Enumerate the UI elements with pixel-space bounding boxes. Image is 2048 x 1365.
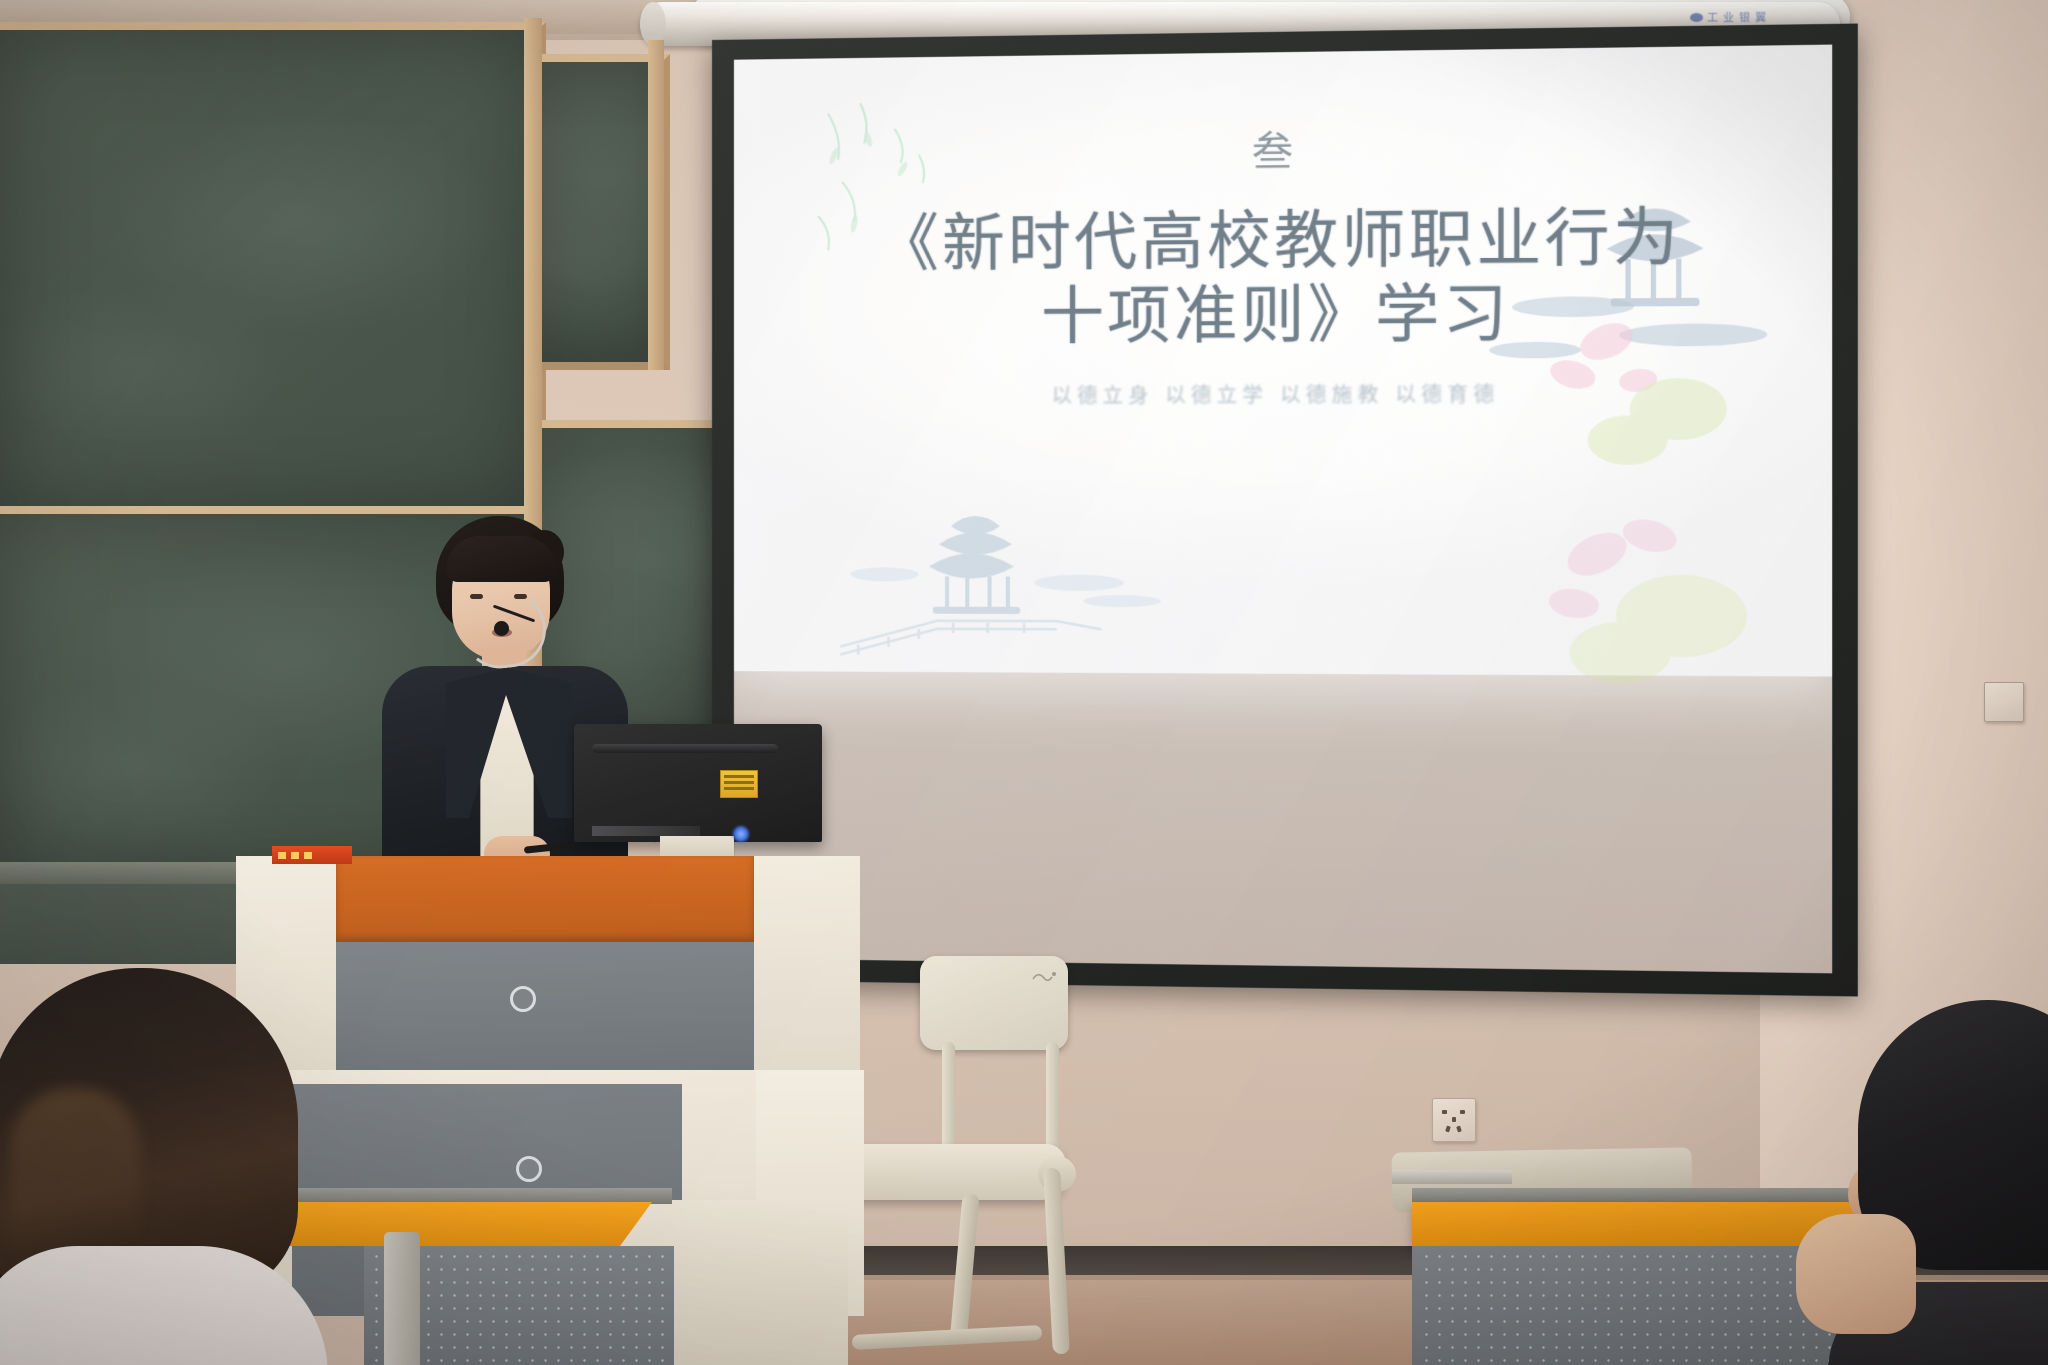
classroom-scene: 工 业 银 翼 [0, 0, 2048, 1365]
podium-lower-lock-icon[interactable] [516, 1156, 542, 1182]
chair-seat [830, 1144, 1066, 1200]
podium-indicator-led-icon [278, 852, 286, 859]
slide-text-block: 叁 《新时代高校教师职业行为 十项准则》学习 以德立身 以德立学 以德施教 以德… [734, 45, 1832, 476]
desk-edge [1392, 1170, 1512, 1184]
podium-accent-band [336, 856, 754, 942]
ink-wash-pavilion-icon [841, 478, 1176, 661]
chair-post-left [942, 1042, 955, 1160]
podium-upper-lock-icon[interactable] [510, 986, 536, 1012]
slide-subtitle: 以德立身 以德立学 以德施教 以德育德 [1052, 378, 1500, 409]
chair-foot-rail [852, 1325, 1043, 1350]
wall-power-outlet[interactable] [1432, 1098, 1476, 1142]
outlet-hole [1442, 1110, 1447, 1114]
chair-leg-front [949, 1194, 979, 1344]
student-hand [1796, 1214, 1916, 1334]
student-shoulder [0, 1246, 328, 1365]
outlet-hole [1445, 1126, 1451, 1133]
outlet-hole [1456, 1126, 1462, 1133]
slide-section-number: 叁 [1252, 118, 1296, 177]
podium-control-strip[interactable] [272, 846, 352, 864]
monitor-vent-groove [592, 744, 778, 753]
watercolor-lotus-icon [1524, 482, 1799, 689]
outlet-hole [1460, 1110, 1465, 1114]
podium-monitor[interactable] [574, 724, 822, 842]
monitor-power-led-icon [733, 826, 749, 842]
slide-title-line-1: 《新时代高校教师职业行为 [876, 200, 1681, 281]
podium-indicator-led-icon [291, 852, 299, 859]
wall-switch-plate[interactable] [1984, 682, 2024, 722]
brand-label-text: 工 业 银 翼 [1707, 9, 1767, 25]
headset-microphone-capsule-icon [494, 621, 509, 636]
desk-leg [384, 1232, 420, 1365]
monitor-port-panel [592, 826, 700, 836]
presenter-hair-fringe [446, 536, 556, 582]
chair-leg-back [1043, 1168, 1070, 1354]
podium-upper-panel [336, 942, 754, 1070]
chalkboard-main-upper [0, 22, 546, 518]
screen-surface: 叁 《新时代高校教师职业行为 十项准则》学习 以德立身 以德立学 以德施教 以德… [734, 45, 1832, 974]
projected-slide: 叁 《新时代高校教师职业行为 十项准则》学习 以德立身 以德立学 以德施教 以德… [734, 45, 1832, 677]
projector-screen[interactable]: 叁 《新时代高校教师职业行为 十项准则》学习 以德立身 以德立学 以德施教 以德… [712, 24, 1858, 997]
brand-logo-icon [1690, 13, 1703, 22]
chalkboard-frame-divider-2 [648, 40, 664, 370]
chair-brand-logo-icon [1032, 970, 1058, 982]
student-foreground-left [0, 968, 328, 1365]
podium-indicator-led-icon [304, 852, 312, 859]
teacher-chair[interactable] [826, 956, 1112, 1356]
student-foreground-right [1838, 1000, 2048, 1365]
slide-title-line-2: 十项准则》学习 [1041, 277, 1511, 354]
outlet-hole [1452, 1117, 1456, 1122]
monitor-asset-sticker [720, 770, 758, 798]
